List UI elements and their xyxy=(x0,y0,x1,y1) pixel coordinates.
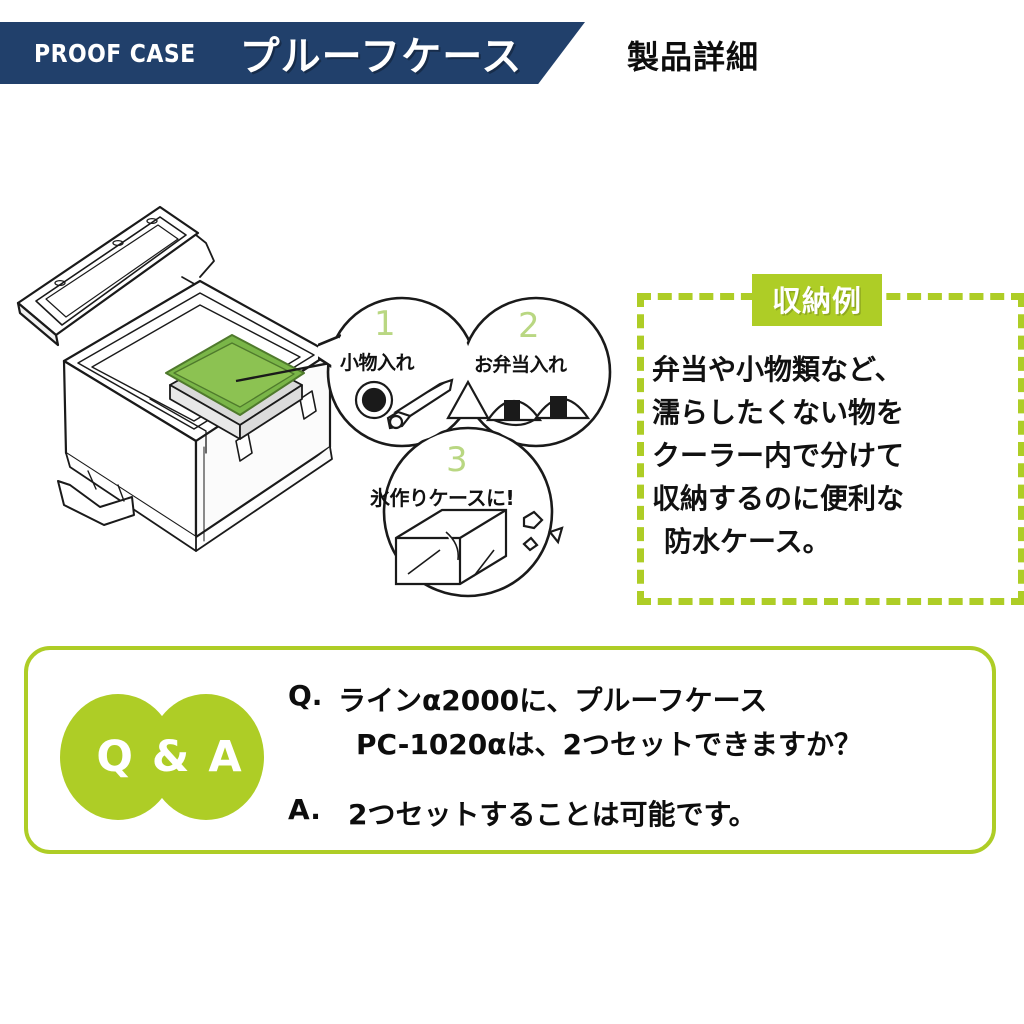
banner-english-title: PROOF CASE xyxy=(34,39,196,68)
storage-line-1: 弁当や小物類など、 xyxy=(652,348,1000,391)
storage-line-4: 収納するのに便利な xyxy=(652,477,1000,520)
usage-callout-bubbles xyxy=(318,288,634,612)
storage-line-3: クーラー内で分けて xyxy=(652,434,1000,477)
qa-badge-label: Q & A xyxy=(60,694,280,820)
answer-marker: A. xyxy=(288,793,321,826)
storage-line-5: 防水ケース。 xyxy=(652,520,1000,563)
product-banner: PROOF CASE プルーフケース xyxy=(0,22,585,84)
answer-text: 2つセットすることは可能です。 xyxy=(348,793,757,833)
banner-japanese-title: プルーフケース xyxy=(240,24,523,82)
page-header: PROOF CASE プルーフケース 製品詳細 xyxy=(0,0,1024,110)
storage-example-title: 収納例 xyxy=(752,274,882,326)
question-line-1: ラインα2000に、プルーフケース xyxy=(338,684,767,717)
question-line-2: PC-1020αは、2つセットできますか？ xyxy=(338,723,862,767)
storage-example-text: 弁当や小物類など、 濡らしたくない物を クーラー内で分けて 収納するのに便利な … xyxy=(652,348,1000,563)
question-marker: Q. xyxy=(288,679,322,712)
storage-line-2: 濡らしたくない物を xyxy=(652,391,1000,434)
cooler-box-illustration xyxy=(0,185,370,590)
qa-badge: Q & A xyxy=(60,694,280,820)
page-title: 製品詳細 xyxy=(627,32,759,78)
question-text: ラインα2000に、プルーフケース PC-1020αは、2つセットできますか？ xyxy=(338,679,862,767)
